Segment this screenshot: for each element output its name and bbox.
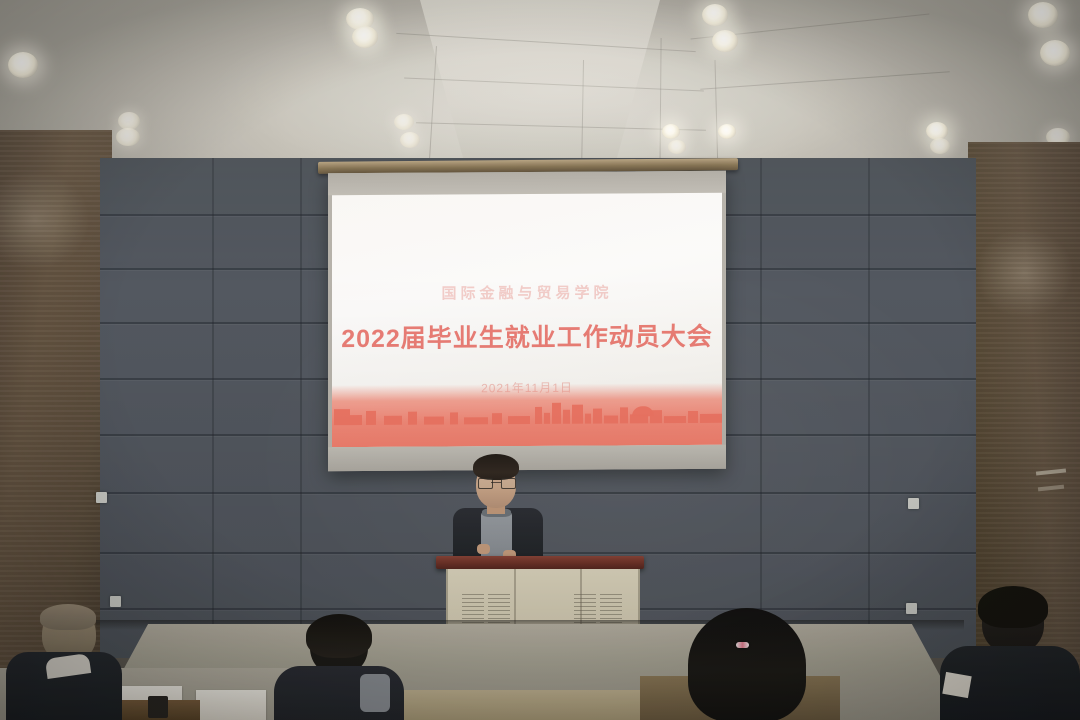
skyline-building [563, 410, 570, 424]
skyline-building [424, 417, 444, 425]
audience-hair [306, 614, 372, 658]
audience-hair [40, 604, 96, 630]
skyline-landmark-dome [632, 406, 654, 416]
audience-hair-clip [736, 642, 749, 648]
ceiling-downlight [718, 124, 736, 139]
wall-panel-seam-vertical [868, 158, 870, 658]
skyline-building [350, 415, 362, 425]
wall-light-reflection [974, 228, 1074, 318]
podium-countertop [436, 556, 644, 569]
wall-light-reflection [0, 170, 90, 270]
glasses-lens-right [501, 478, 516, 489]
audience-hair [978, 586, 1048, 628]
wall-panel-seam-vertical [760, 158, 762, 658]
ceiling-downlight [8, 52, 38, 78]
speaker-hair [473, 454, 519, 480]
wall-panel-seam-vertical [300, 158, 302, 658]
wall-outlet-plate [96, 492, 107, 503]
audience-paper-held [942, 672, 971, 698]
audience-member-right-long-hair [680, 608, 810, 720]
ceiling-downlight [930, 138, 950, 154]
skyline-building [384, 416, 402, 425]
skyline-building [366, 411, 376, 425]
audience-member-left-mid [276, 618, 402, 720]
ceiling-downlight [712, 30, 738, 52]
desk-object-phone [148, 696, 168, 718]
ceiling-downlight [394, 114, 414, 130]
skyline-building [464, 417, 488, 424]
skyline-building [334, 409, 350, 425]
wall-outlet-plate [908, 498, 919, 509]
slide-title: 2022届毕业生就业工作动员大会 [332, 317, 722, 355]
skyline-building [593, 409, 602, 424]
conference-hall-photo: 国际金融与贸易学院 2022届毕业生就业工作动员大会 2021年11月1日 [0, 0, 1080, 720]
ceiling-downlight [400, 132, 420, 148]
glasses-bridge [491, 482, 501, 483]
audience-paper-document [196, 690, 266, 720]
speaker-glasses [478, 478, 514, 487]
skyline-building [544, 413, 550, 424]
wall-outlet-plate [906, 603, 917, 614]
ceiling-downlight [1040, 40, 1070, 66]
audience-shirt-collar [360, 674, 390, 712]
skyline-building [664, 416, 686, 423]
slide-organization-line: 国际金融与贸易学院 [332, 281, 722, 304]
ceiling-downlight [702, 4, 728, 26]
ceiling-downlight [1028, 2, 1058, 28]
skyline-building [585, 414, 591, 424]
audience-member-left-front [10, 606, 120, 720]
left-wood-wall [0, 130, 112, 670]
projected-slide: 国际金融与贸易学院 2022届毕业生就业工作动员大会 2021年11月1日 [332, 193, 722, 447]
glasses-lens-left [478, 478, 493, 489]
skyline-building [408, 412, 417, 425]
skyline-building [492, 413, 502, 424]
audience-hair [688, 608, 806, 720]
ceiling-downlight [116, 128, 140, 146]
skyline-building [700, 414, 722, 423]
skyline-building [620, 407, 628, 423]
skyline-building [604, 415, 618, 423]
slide-skyline-graphic [332, 383, 722, 447]
skyline-building [450, 412, 458, 424]
skyline-building [552, 403, 561, 424]
speaker-presenter [449, 452, 547, 564]
ceiling-downlight [668, 140, 686, 154]
speaker-hand-left [477, 544, 490, 554]
ceiling-downlight [662, 124, 680, 139]
skyline-building [688, 411, 698, 423]
projector-screen: 国际金融与贸易学院 2022届毕业生就业工作动员大会 2021年11月1日 [328, 171, 726, 471]
ceiling-downlight [352, 26, 378, 48]
skyline-building [535, 407, 542, 424]
ceiling-light-bloom [0, 0, 1080, 176]
skyline-building [572, 405, 583, 424]
skyline-building [508, 416, 530, 424]
audience-member-right-edge [940, 590, 1080, 720]
wall-panel-seam-vertical [212, 158, 214, 658]
screen-top-border [328, 171, 726, 195]
